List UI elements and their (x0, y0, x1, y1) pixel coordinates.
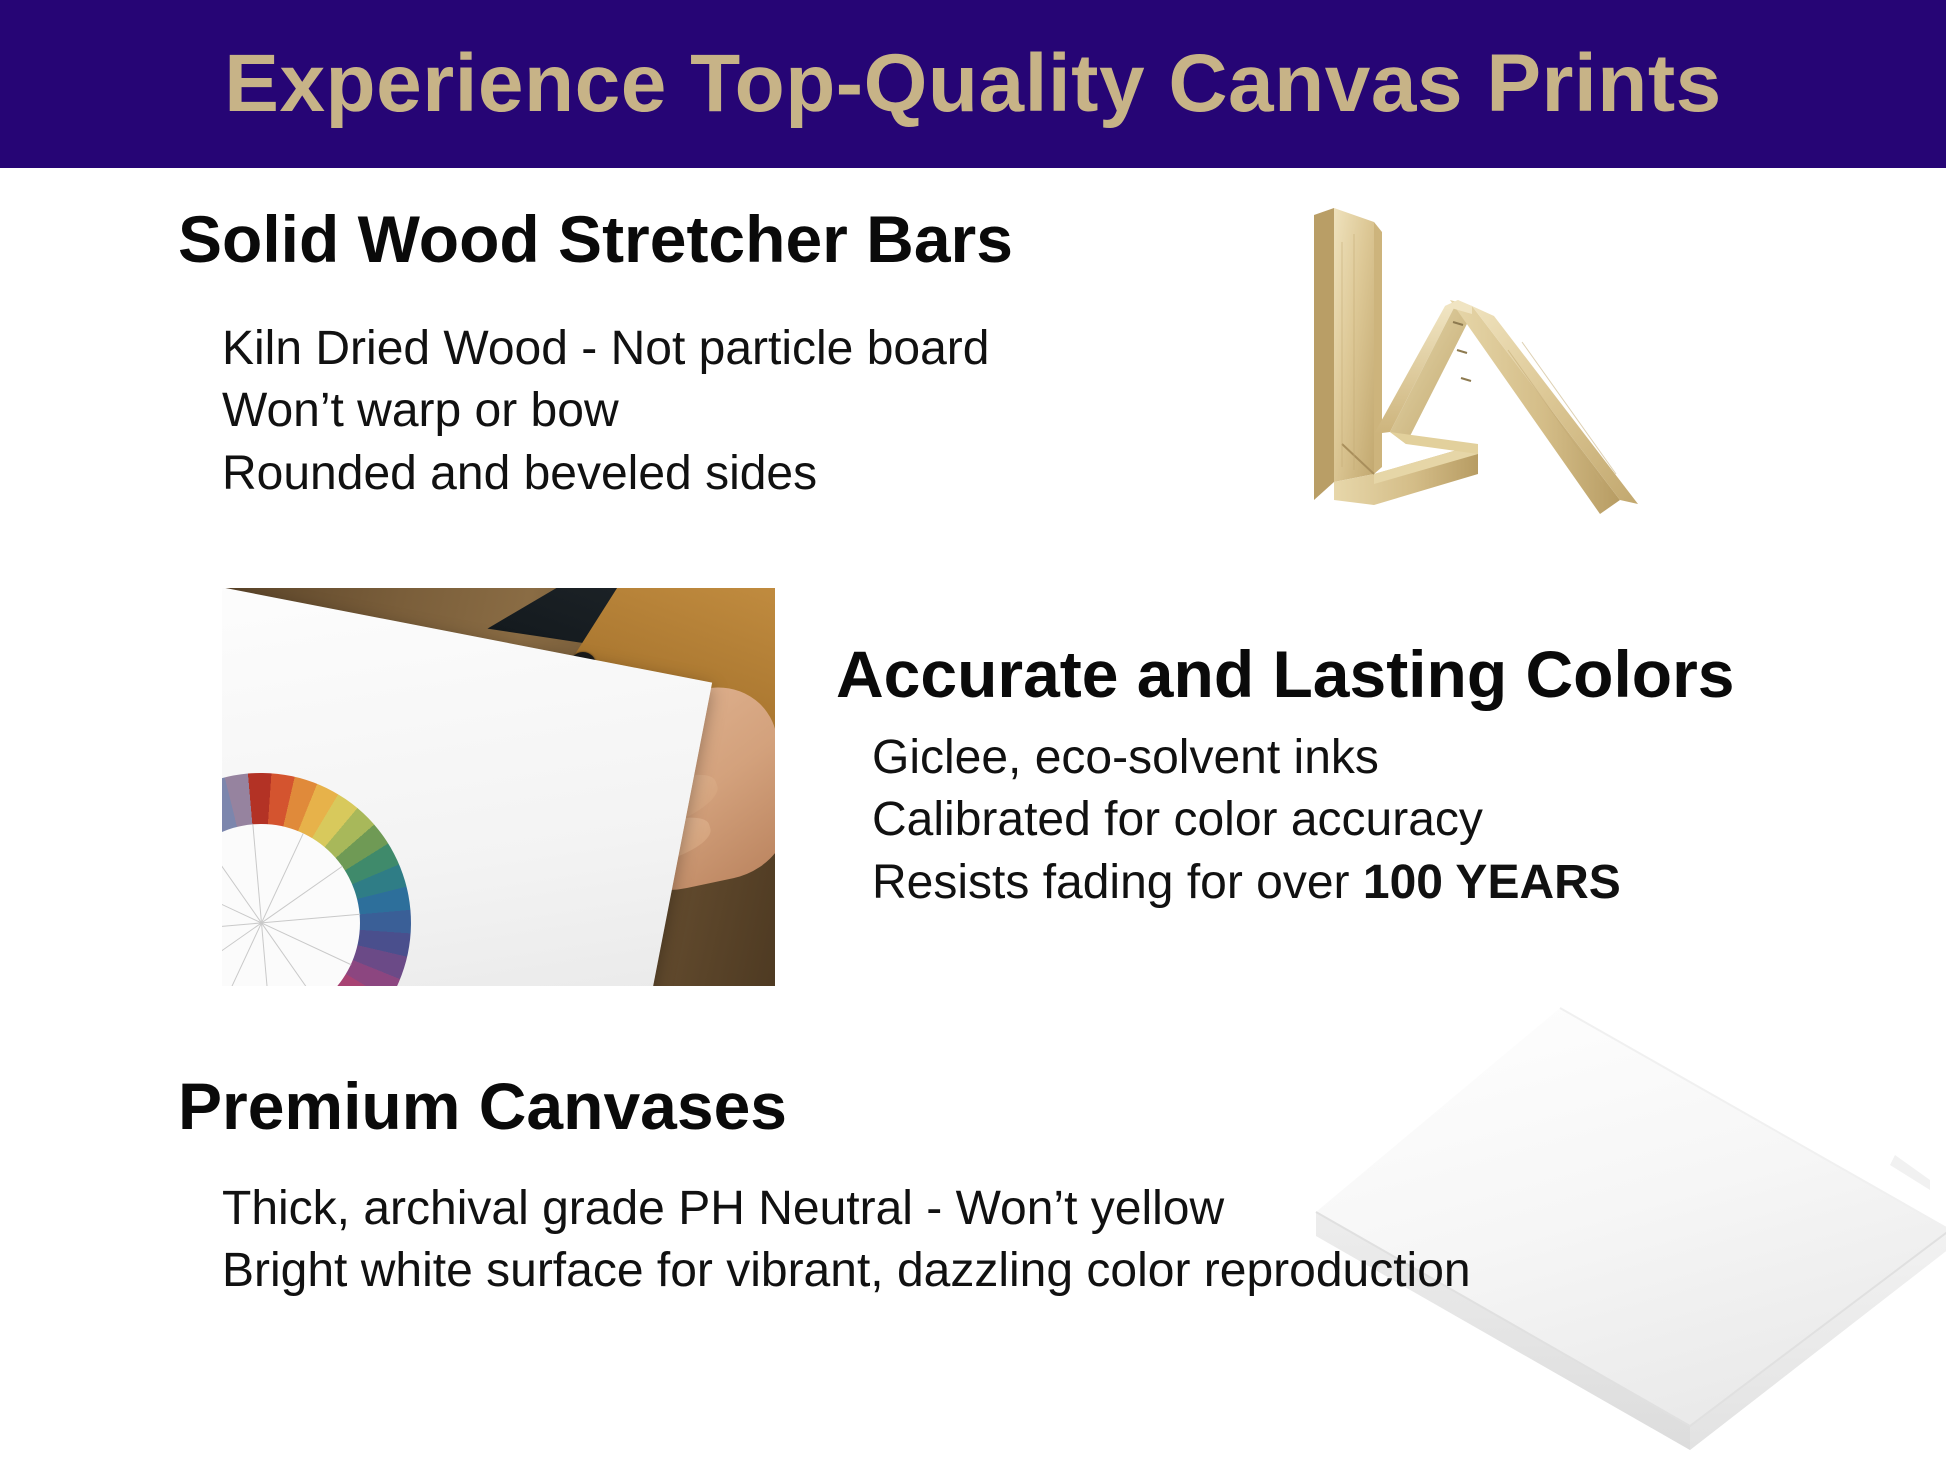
bullet-list-accurate-colors: Giclee, eco-solvent inks Calibrated for … (872, 727, 1621, 914)
list-item-emphasis: Resists fading for over 100 YEARS (872, 852, 1621, 914)
header-banner: Experience Top-Quality Canvas Prints (0, 0, 1946, 168)
section-heading-stretcher-bars: Solid Wood Stretcher Bars (178, 205, 1013, 274)
color-wheel-photo (222, 588, 775, 986)
list-item: Won’t warp or bow (222, 380, 989, 442)
color-wheel-graphic (222, 760, 423, 986)
page-title: Experience Top-Quality Canvas Prints (224, 43, 1721, 125)
stretcher-bars-photo (1282, 182, 1657, 552)
bullet-list-stretcher-bars: Kiln Dried Wood - Not particle board Won… (222, 318, 989, 505)
section-heading-premium-canvases: Premium Canvases (178, 1072, 787, 1141)
list-item: Kiln Dried Wood - Not particle board (222, 318, 989, 380)
list-item-emphasis-bold: 100 YEARS (1363, 856, 1621, 909)
list-item-emphasis-prefix: Resists fading for over (872, 856, 1363, 909)
list-item: Giclee, eco-solvent inks (872, 727, 1621, 789)
list-item: Thick, archival grade PH Neutral - Won’t… (222, 1178, 1471, 1240)
list-item: Bright white surface for vibrant, dazzli… (222, 1240, 1471, 1302)
slide-canvas: Experience Top-Quality Canvas Prints Sol… (0, 0, 1946, 1460)
list-item: Calibrated for color accuracy (872, 789, 1621, 851)
list-item: Rounded and beveled sides (222, 443, 989, 505)
section-heading-accurate-colors: Accurate and Lasting Colors (836, 640, 1735, 709)
bullet-list-premium-canvases: Thick, archival grade PH Neutral - Won’t… (222, 1178, 1471, 1303)
